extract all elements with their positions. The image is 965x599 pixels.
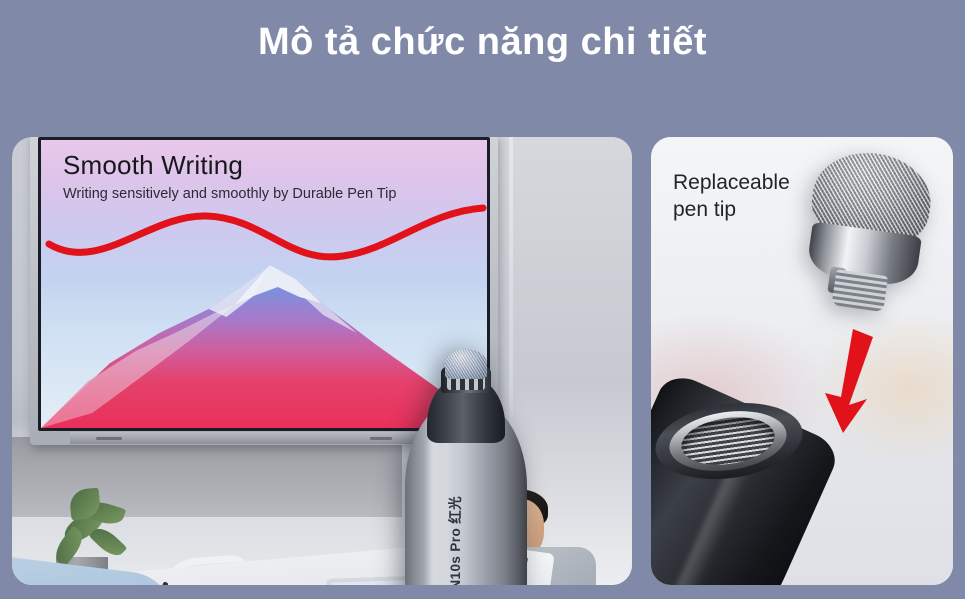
detached-pen-tip xyxy=(789,139,943,340)
hero-presenter-pen: NORWii 诺为 N10s Pro 红光 xyxy=(405,365,527,585)
pen-brand-text: NORWii 诺为 N10s Pro 红光 xyxy=(444,446,464,585)
red-ink-stroke xyxy=(41,198,487,268)
page-title: Mô tả chức năng chi tiết xyxy=(0,17,965,67)
pen-tip-dome xyxy=(445,349,487,379)
display-stand xyxy=(70,432,460,444)
replaceable-tip-panel: Replaceable pen tip xyxy=(651,137,953,585)
replaceable-tip-title: Replaceable pen tip xyxy=(673,169,790,223)
pen-tip-screw-thread xyxy=(832,269,889,312)
stand-vent xyxy=(96,437,122,440)
screen-heading: Smooth Writing xyxy=(63,150,243,181)
pen-tip-mesh xyxy=(445,349,487,379)
pen-barrel xyxy=(651,380,953,585)
smooth-writing-panel: Smooth Writing Writing sensitively and s… xyxy=(12,137,632,585)
stand-vent xyxy=(370,437,392,440)
screen-subheading: Writing sensitively and smoothly by Dura… xyxy=(63,186,396,202)
